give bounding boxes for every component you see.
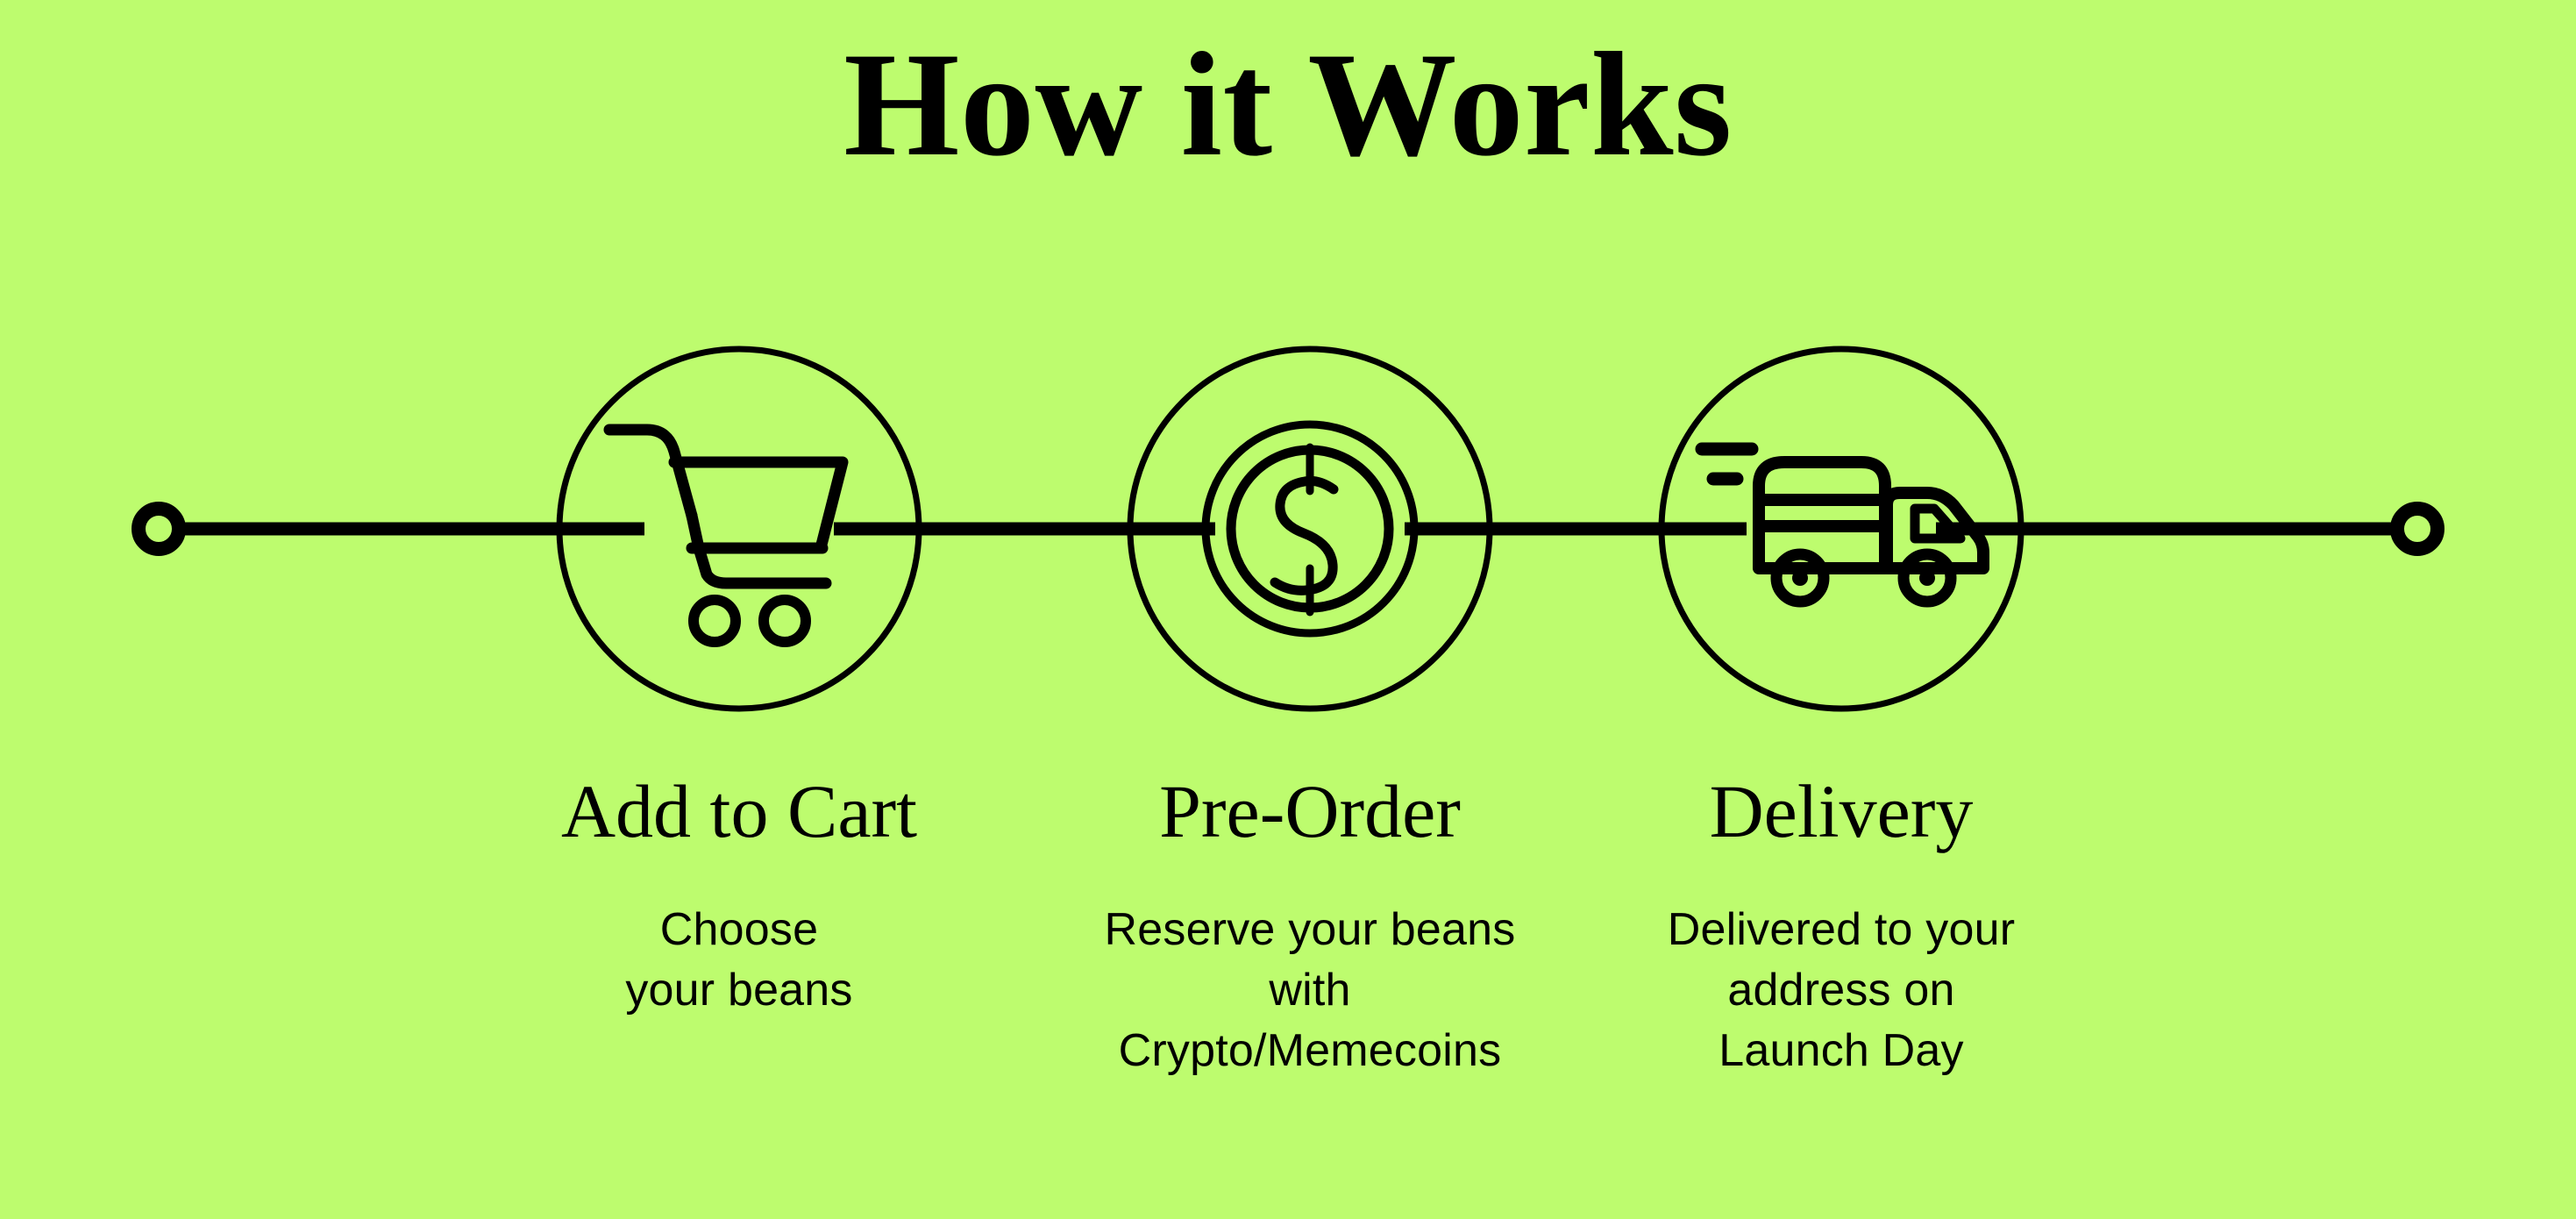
timeline-end-dot xyxy=(2397,509,2437,549)
step-1-description: Choose your beans xyxy=(459,900,1020,1020)
step-2-text: Pre-Order Reserve your beans with Crypto… xyxy=(1029,772,1590,1080)
step-2-description-line: Reserve your beans xyxy=(1029,900,1590,960)
step-1-description-line: Choose xyxy=(459,900,1020,960)
step-3-circle xyxy=(1662,349,2021,709)
step-3-text: Delivery Delivered to your address on La… xyxy=(1561,772,2122,1080)
step-2-node[interactable] xyxy=(1130,349,1490,709)
step-2-description: Reserve your beans with Crypto/Memecoins xyxy=(1029,900,1590,1080)
step-1-node[interactable] xyxy=(559,349,919,709)
step-3-description-line: Launch Day xyxy=(1561,1021,2122,1081)
step-1-text: Add to Cart Choose your beans xyxy=(459,772,1020,1021)
how-it-works-infographic: How it Works xyxy=(0,0,2576,1219)
delivery-truck-icon xyxy=(1702,449,1983,602)
step-3-label: Delivery xyxy=(1561,772,2122,851)
step-1-circle xyxy=(559,349,919,709)
step-2-description-line: with xyxy=(1029,960,1590,1021)
dollar-coin-icon xyxy=(1206,424,1414,633)
step-3-node[interactable] xyxy=(1662,349,2021,709)
step-3-description-line: address on xyxy=(1561,960,2122,1021)
timeline-start-dot xyxy=(139,509,179,549)
step-3-description-line: Delivered to your xyxy=(1561,900,2122,960)
step-1-label: Add to Cart xyxy=(459,772,1020,851)
step-2-description-line: Crypto/Memecoins xyxy=(1029,1021,1590,1081)
shopping-cart-icon xyxy=(609,430,843,642)
steps-text-group: Add to Cart Choose your beans Pre-Order … xyxy=(0,772,2576,1123)
step-2-label: Pre-Order xyxy=(1029,772,1590,851)
step-3-description: Delivered to your address on Launch Day xyxy=(1561,900,2122,1080)
step-2-circle xyxy=(1130,349,1490,709)
page-title: How it Works xyxy=(0,30,2576,179)
step-1-description-line: your beans xyxy=(459,960,1020,1021)
